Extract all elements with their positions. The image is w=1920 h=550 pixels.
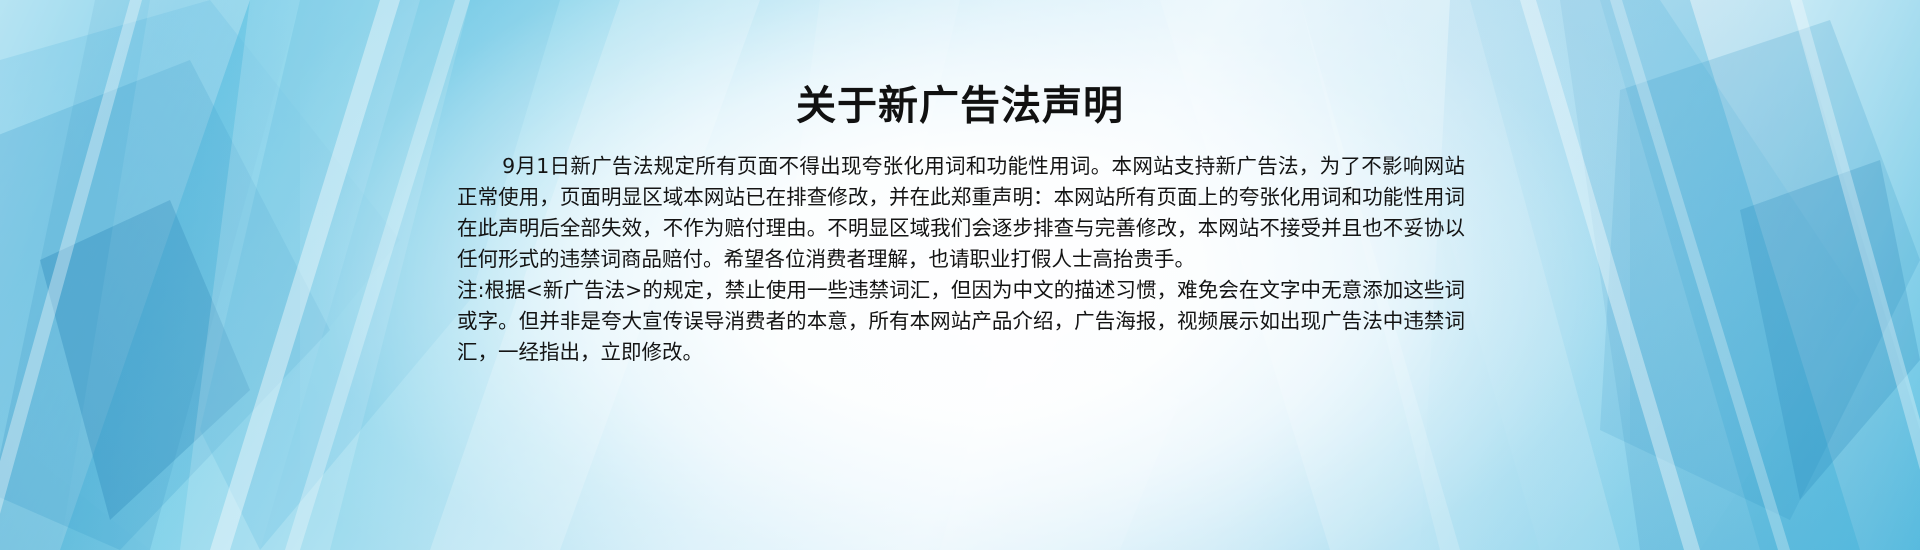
statement-body: 9月1日新广告法规定所有页面不得出现夸张化用词和功能性用词。本网站支持新广告法，… xyxy=(457,151,1465,368)
statement-paragraph-1: 9月1日新广告法规定所有页面不得出现夸张化用词和功能性用词。本网站支持新广告法，… xyxy=(457,151,1465,275)
page-title: 关于新广告法声明 xyxy=(0,82,1920,130)
statement-paragraph-2: 注:根据<新广告法>的规定，禁止使用一些违禁词汇，但因为中文的描述习惯，难免会在… xyxy=(457,275,1465,368)
banner-content: 关于新广告法声明 9月1日新广告法规定所有页面不得出现夸张化用词和功能性用词。本… xyxy=(0,0,1920,550)
advertising-law-statement-banner: 关于新广告法声明 9月1日新广告法规定所有页面不得出现夸张化用词和功能性用词。本… xyxy=(0,0,1920,550)
